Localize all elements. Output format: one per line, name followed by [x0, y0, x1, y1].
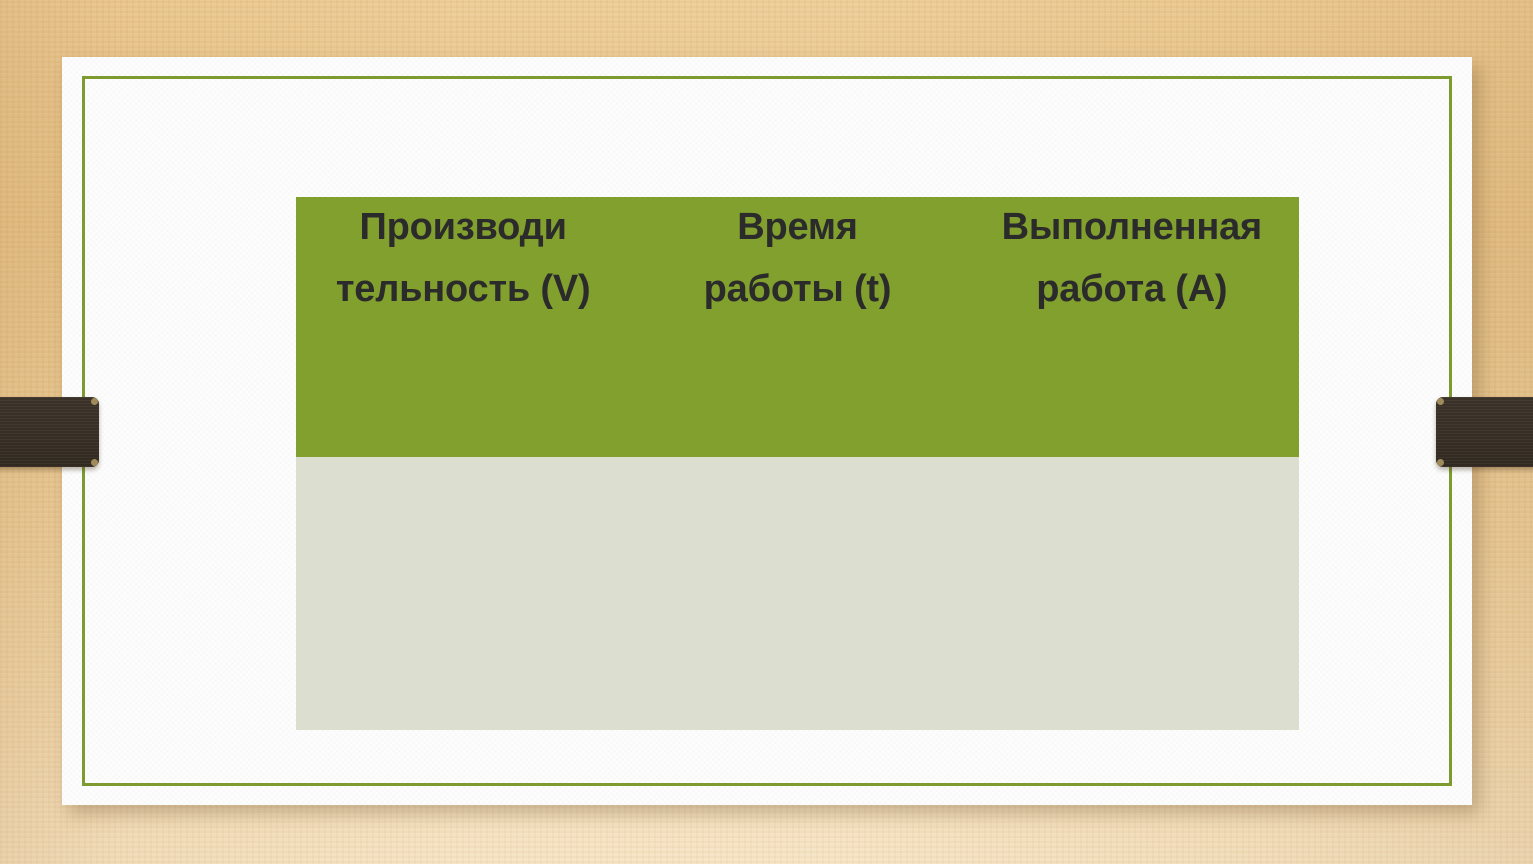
table-row [296, 457, 1299, 730]
slide-background: Производи тельность (V) Время работы (t)… [0, 0, 1533, 864]
ribbon-peg-icon [1437, 398, 1444, 405]
table-header-row-group: Производи тельность (V) Время работы (t)… [296, 197, 1299, 457]
table-header-cell-time: Время работы (t) [630, 197, 964, 457]
slide-canvas: Производи тельность (V) Время работы (t)… [62, 57, 1472, 805]
table-header-label-work: Выполненная работа (А) [965, 197, 1299, 320]
table-header-cell-work: Выполненная работа (А) [965, 197, 1299, 457]
ribbon-peg-icon [1437, 459, 1444, 466]
table-body [296, 457, 1299, 730]
work-formula-table: Производи тельность (V) Время работы (t)… [296, 197, 1299, 730]
table-header-row: Производи тельность (V) Время работы (t)… [296, 197, 1299, 457]
table-header-label-productivity: Производи тельность (V) [296, 197, 630, 320]
decorative-ribbon-left [0, 397, 99, 467]
table-header-label-time: Время работы (t) [630, 197, 964, 320]
ribbon-peg-icon [91, 398, 98, 405]
table-cell-time-value[interactable] [630, 457, 964, 730]
table-header-cell-productivity: Производи тельность (V) [296, 197, 630, 457]
table-cell-work-value[interactable] [965, 457, 1299, 730]
table-cell-productivity-value[interactable] [296, 457, 630, 730]
decorative-ribbon-right [1436, 397, 1533, 467]
ribbon-peg-icon [91, 459, 98, 466]
